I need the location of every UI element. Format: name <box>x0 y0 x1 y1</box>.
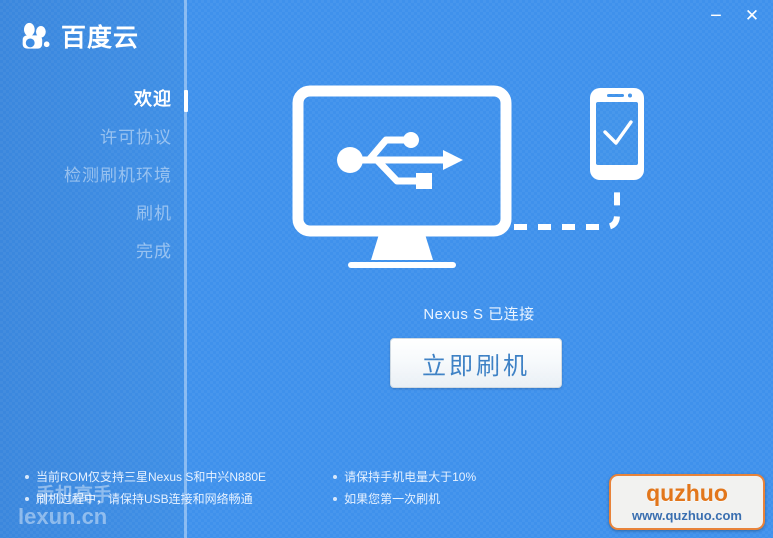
start-flash-button[interactable]: 立即刷机 <box>390 338 562 388</box>
sidebar-divider <box>184 0 187 538</box>
window-controls: − ✕ <box>705 6 763 28</box>
baidu-cloud-logo-icon <box>18 22 54 54</box>
usb-cable-dashed <box>514 186 617 227</box>
step-navigation: 欢迎 许可协议 检测刷机环境 刷机 完成 <box>0 90 172 281</box>
baidu-cloud-flash-tool-window: 百度云 欢迎 许可协议 检测刷机环境 刷机 完成 − ✕ <box>0 0 773 538</box>
close-icon[interactable]: ✕ <box>741 6 763 28</box>
minimize-icon[interactable]: − <box>705 6 727 28</box>
tips-column-left: 当前ROM仅支持三星Nexus S和中兴N880E 刷机过程中，请保持USB连接… <box>24 466 314 510</box>
sidebar-step-flash[interactable]: 刷机 <box>0 205 172 222</box>
connection-status-text: Nexus S 已连接 <box>185 303 773 324</box>
main-content: Nexus S 已连接 立即刷机 <box>185 0 773 538</box>
sidebar-step-finish[interactable]: 完成 <box>0 243 172 260</box>
app-logo: 百度云 <box>18 22 139 54</box>
tip-item: 刷机过程中，请保持USB连接和网络畅通 <box>24 488 314 510</box>
connection-illustration <box>285 82 675 282</box>
active-step-indicator <box>184 90 188 112</box>
tip-item: 如果您第一次刷机 <box>332 488 569 510</box>
tip-item: 请保持手机电量大于10% <box>332 466 569 488</box>
sidebar-step-license[interactable]: 许可协议 <box>0 129 172 146</box>
sidebar-step-welcome[interactable]: 欢迎 <box>0 90 172 108</box>
sidebar-step-check-environment[interactable]: 检测刷机环境 <box>0 167 172 184</box>
tips-section: 当前ROM仅支持三星Nexus S和中兴N880E 刷机过程中，请保持USB连接… <box>24 466 569 510</box>
usb-icon <box>337 132 463 189</box>
phone-with-check-icon <box>590 88 644 180</box>
tips-column-right: 请保持手机电量大于10% 如果您第一次刷机 <box>332 466 569 510</box>
app-brand-name: 百度云 <box>61 26 139 51</box>
tip-item: 当前ROM仅支持三星Nexus S和中兴N880E <box>24 466 314 488</box>
